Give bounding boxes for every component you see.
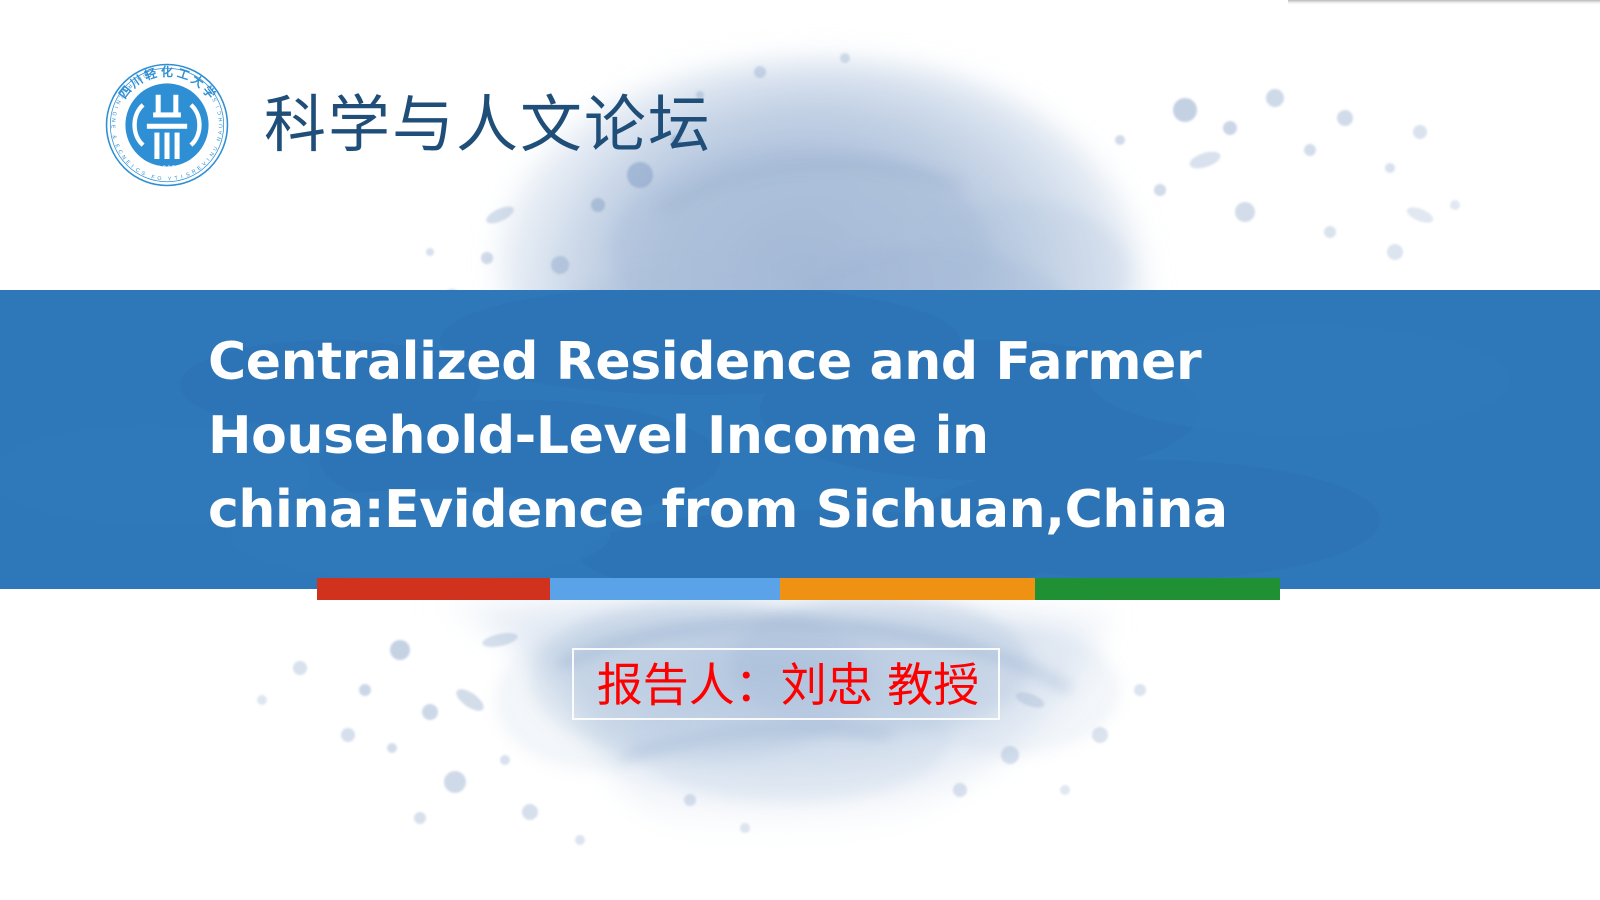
svg-text:I: I xyxy=(180,174,183,180)
svg-text:C: C xyxy=(116,149,123,156)
svg-text:I: I xyxy=(112,105,118,109)
svg-text:E: E xyxy=(110,125,116,129)
svg-text:S: S xyxy=(185,172,191,179)
svg-text:N: N xyxy=(110,118,116,123)
accent-segment-blue xyxy=(550,578,780,600)
svg-text:I: I xyxy=(215,105,221,109)
svg-text:N: N xyxy=(209,151,216,158)
svg-text:E: E xyxy=(113,143,120,149)
svg-text:化: 化 xyxy=(161,64,173,79)
page-title: Centralized Residence and Farmer Househo… xyxy=(208,326,1388,547)
title-banner: Centralized Residence and Farmer Househo… xyxy=(0,290,1600,589)
svg-text:S: S xyxy=(211,96,218,102)
svg-text:T: T xyxy=(174,175,179,182)
accent-segment-orange xyxy=(780,578,1035,600)
window-edge-strip xyxy=(1288,0,1600,5)
presenter-label: 报告人：刘忠 教授 xyxy=(578,650,998,720)
svg-text:C: C xyxy=(134,167,141,174)
svg-text:· 1965 ·: · 1965 · xyxy=(152,165,182,172)
svg-text:I: I xyxy=(129,164,134,170)
svg-text:U: U xyxy=(218,124,224,128)
svg-text:H: H xyxy=(218,117,224,122)
svg-text:N: N xyxy=(114,99,121,105)
svg-text:I: I xyxy=(206,157,212,162)
svg-text:&: & xyxy=(111,135,118,140)
svg-text:N: N xyxy=(120,154,127,161)
accent-color-bar xyxy=(317,578,1280,600)
svg-text:V: V xyxy=(201,161,208,168)
watercolor-blob-lower xyxy=(430,600,1115,856)
accent-segment-green xyxy=(1035,578,1280,600)
svg-text:E: E xyxy=(196,165,203,172)
svg-text:E: E xyxy=(124,159,131,166)
forum-title: 科学与人文论坛 xyxy=(264,94,712,156)
svg-text:R: R xyxy=(191,169,198,176)
svg-text:U: U xyxy=(212,146,219,152)
svg-text:N: N xyxy=(216,136,223,141)
svg-text:Y: Y xyxy=(168,176,172,182)
slide-header: 四 川 轻 化 工 大 学 S I C H U A N U N I V xyxy=(104,62,712,188)
svg-text:C: C xyxy=(217,110,224,115)
svg-text:S: S xyxy=(140,170,146,177)
svg-text:工: 工 xyxy=(176,66,192,83)
svg-text:O: O xyxy=(157,176,162,183)
presentation-slide: 四 川 轻 化 工 大 学 S I C H U A N U N I V xyxy=(0,0,1600,900)
university-seal-logo: 四 川 轻 化 工 大 学 S I C H U A N U N I V xyxy=(104,62,230,188)
accent-segment-red xyxy=(317,578,550,600)
